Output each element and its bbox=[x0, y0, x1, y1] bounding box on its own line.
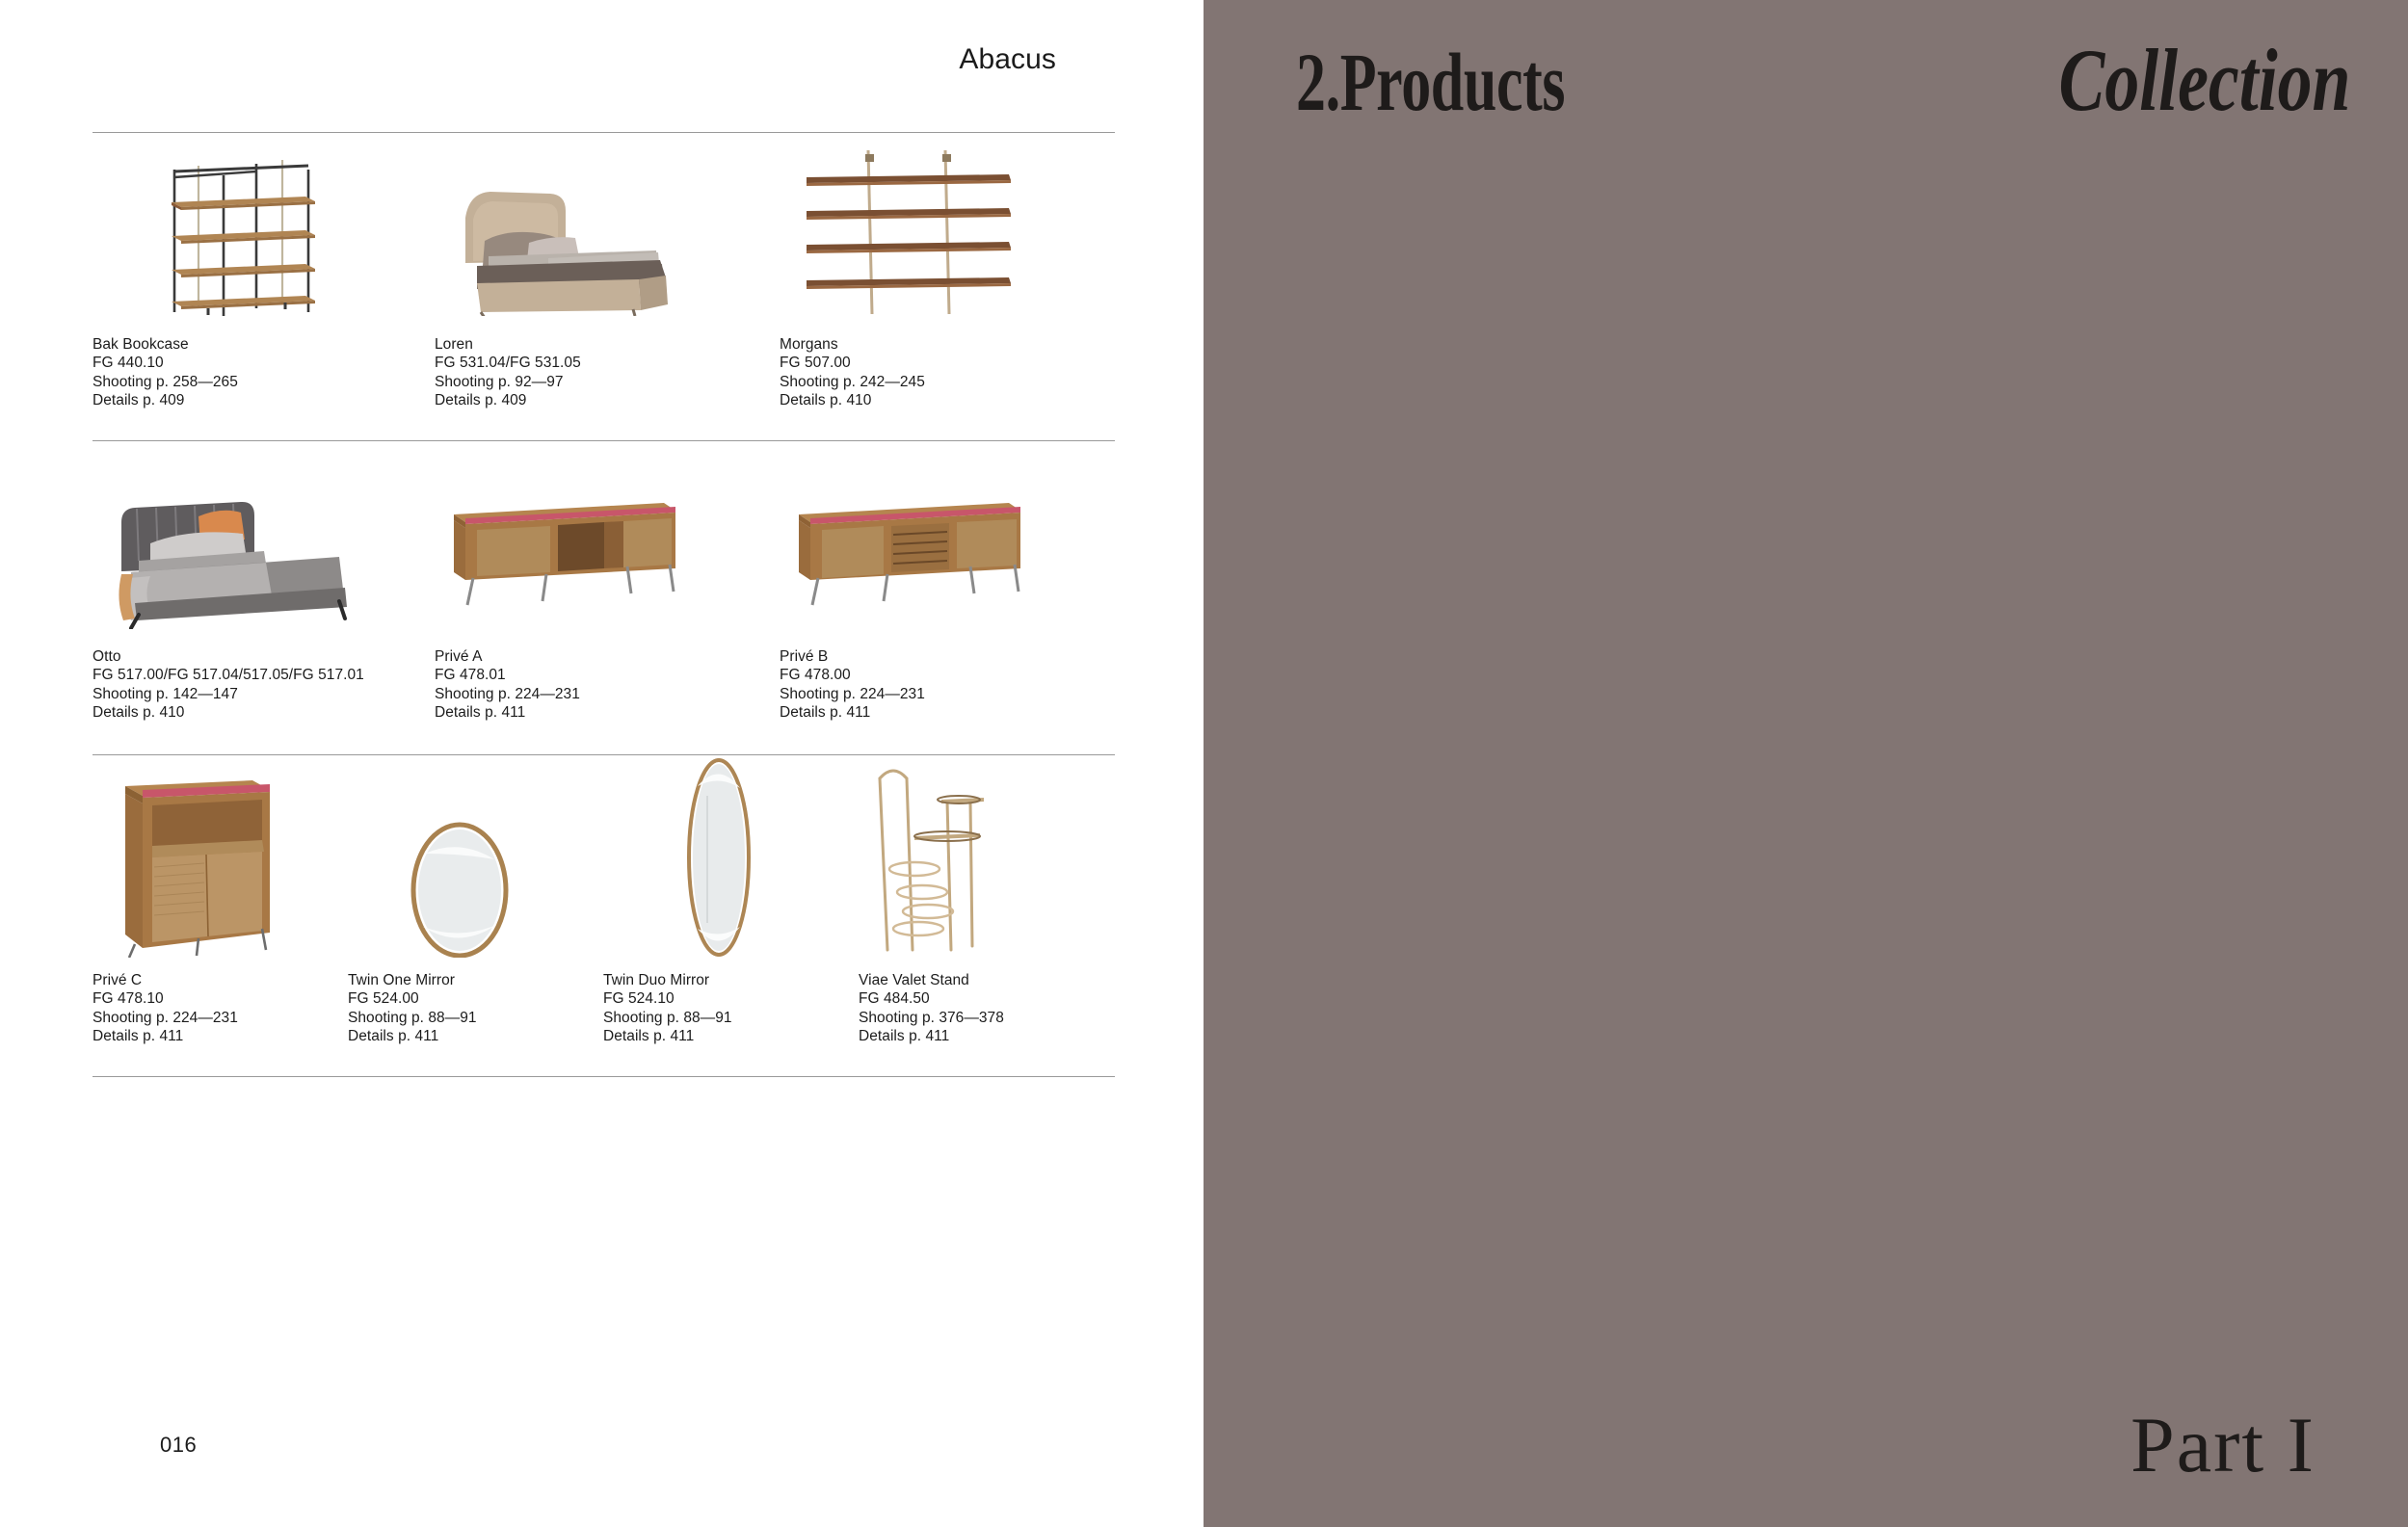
product-caption: Bak Bookcase FG 440.10 Shooting p. 258—2… bbox=[93, 335, 238, 410]
product-details-ref: Details p. 411 bbox=[348, 1027, 477, 1045]
product-details-ref: Details p. 409 bbox=[93, 391, 238, 409]
product-caption: Privé A FG 478.01 Shooting p. 224—231 De… bbox=[435, 647, 580, 723]
product-row-3: Privé C FG 478.10 Shooting p. 224—231 De… bbox=[93, 757, 1115, 1076]
cabinet-tall-icon bbox=[93, 765, 348, 958]
product-shooting-ref: Shooting p. 224—231 bbox=[435, 685, 580, 703]
product-name: Otto bbox=[93, 647, 364, 666]
divider-top bbox=[93, 132, 1115, 133]
product-name: Bak Bookcase bbox=[93, 335, 238, 354]
product-details-ref: Details p. 410 bbox=[93, 703, 364, 722]
product-details-ref: Details p. 411 bbox=[435, 703, 580, 722]
product-name: Twin Duo Mirror bbox=[603, 971, 732, 989]
right-page-panel: 2.Products Collection Part I bbox=[1204, 0, 2408, 1527]
product-code: FG 531.04/FG 531.05 bbox=[435, 354, 581, 372]
product-name: Privé B bbox=[780, 647, 925, 666]
section-subtitle: Collection bbox=[2058, 29, 2350, 131]
product-name: Twin One Mirror bbox=[348, 971, 477, 989]
product-name: Privé A bbox=[435, 647, 580, 666]
product-caption: Otto FG 517.00/FG 517.04/517.05/FG 517.0… bbox=[93, 647, 364, 723]
part-label: Part I bbox=[2130, 1400, 2315, 1490]
product-caption: Loren FG 531.04/FG 531.05 Shooting p. 92… bbox=[435, 335, 581, 410]
product-details-ref: Details p. 411 bbox=[859, 1027, 1004, 1045]
sideboard-drawers-icon bbox=[780, 489, 1117, 615]
product-details-ref: Details p. 411 bbox=[780, 703, 925, 722]
product-card-loren[interactable]: Loren FG 531.04/FG 531.05 Shooting p. 92… bbox=[435, 135, 772, 440]
product-shooting-ref: Shooting p. 142—147 bbox=[93, 685, 364, 703]
product-shooting-ref: Shooting p. 88—91 bbox=[348, 1009, 477, 1027]
product-code: FG 524.10 bbox=[603, 989, 732, 1008]
product-code: FG 440.10 bbox=[93, 354, 238, 372]
section-number-title: 2.Products bbox=[1296, 34, 1565, 130]
page-title: Abacus bbox=[959, 43, 1056, 76]
sideboard-open-icon bbox=[435, 489, 772, 615]
product-code: FG 524.00 bbox=[348, 989, 477, 1008]
product-row-2: Otto FG 517.00/FG 517.04/517.05/FG 517.0… bbox=[93, 443, 1115, 754]
product-code: FG 484.50 bbox=[859, 989, 1004, 1008]
product-details-ref: Details p. 409 bbox=[435, 391, 581, 409]
product-shooting-ref: Shooting p. 242—245 bbox=[780, 373, 925, 391]
valet-stand-icon bbox=[859, 757, 1117, 958]
divider-row-1 bbox=[93, 440, 1115, 441]
product-shooting-ref: Shooting p. 92—97 bbox=[435, 373, 581, 391]
product-details-ref: Details p. 410 bbox=[780, 391, 925, 409]
product-caption: Twin Duo Mirror FG 524.10 Shooting p. 88… bbox=[603, 971, 732, 1046]
product-row-1: Bak Bookcase FG 440.10 Shooting p. 258—2… bbox=[93, 135, 1115, 440]
product-name: Privé C bbox=[93, 971, 238, 989]
product-name: Loren bbox=[435, 335, 581, 354]
product-card-twin-duo-mirror[interactable]: Twin Duo Mirror FG 524.10 Shooting p. 88… bbox=[603, 757, 859, 1076]
product-card-prive-b[interactable]: Privé B FG 478.00 Shooting p. 224—231 De… bbox=[780, 443, 1117, 754]
bed-leather-icon bbox=[435, 143, 772, 316]
product-details-ref: Details p. 411 bbox=[93, 1027, 238, 1045]
product-shooting-ref: Shooting p. 224—231 bbox=[93, 1009, 238, 1027]
catalog-spread: Abacus bbox=[0, 0, 2408, 1527]
divider-row-3 bbox=[93, 1076, 1115, 1077]
product-code: FG 507.00 bbox=[780, 354, 925, 372]
product-name: Morgans bbox=[780, 335, 925, 354]
product-name: Viae Valet Stand bbox=[859, 971, 1004, 989]
product-card-prive-a[interactable]: Privé A FG 478.01 Shooting p. 224—231 De… bbox=[435, 443, 772, 754]
divider-row-2 bbox=[93, 754, 1115, 755]
product-caption: Privé C FG 478.10 Shooting p. 224—231 De… bbox=[93, 971, 238, 1046]
product-shooting-ref: Shooting p. 224—231 bbox=[780, 685, 925, 703]
product-card-prive-c[interactable]: Privé C FG 478.10 Shooting p. 224—231 De… bbox=[93, 757, 348, 1076]
product-caption: Morgans FG 507.00 Shooting p. 242—245 De… bbox=[780, 335, 925, 410]
bed-upholstered-icon bbox=[93, 461, 430, 629]
product-caption: Twin One Mirror FG 524.00 Shooting p. 88… bbox=[348, 971, 477, 1046]
product-card-morgans[interactable]: Morgans FG 507.00 Shooting p. 242—245 De… bbox=[780, 135, 1117, 440]
product-code: FG 517.00/FG 517.04/517.05/FG 517.01 bbox=[93, 666, 364, 684]
mirror-oval-icon bbox=[348, 765, 603, 958]
product-details-ref: Details p. 411 bbox=[603, 1027, 732, 1045]
wall-shelving-icon bbox=[780, 143, 1117, 316]
product-caption: Privé B FG 478.00 Shooting p. 224—231 De… bbox=[780, 647, 925, 723]
product-caption: Viae Valet Stand FG 484.50 Shooting p. 3… bbox=[859, 971, 1004, 1046]
product-code: FG 478.01 bbox=[435, 666, 580, 684]
product-card-twin-one-mirror[interactable]: Twin One Mirror FG 524.00 Shooting p. 88… bbox=[348, 757, 603, 1076]
mirror-tall-icon bbox=[603, 757, 859, 958]
product-code: FG 478.10 bbox=[93, 989, 238, 1008]
product-shooting-ref: Shooting p. 88—91 bbox=[603, 1009, 732, 1027]
left-page: Abacus bbox=[0, 0, 1204, 1527]
product-code: FG 478.00 bbox=[780, 666, 925, 684]
page-number: 016 bbox=[160, 1433, 197, 1458]
product-card-bak-bookcase[interactable]: Bak Bookcase FG 440.10 Shooting p. 258—2… bbox=[93, 135, 430, 440]
product-card-otto[interactable]: Otto FG 517.00/FG 517.04/517.05/FG 517.0… bbox=[93, 443, 430, 754]
product-card-viae-valet-stand[interactable]: Viae Valet Stand FG 484.50 Shooting p. 3… bbox=[859, 757, 1117, 1076]
product-shooting-ref: Shooting p. 258—265 bbox=[93, 373, 238, 391]
bookcase-icon bbox=[93, 143, 430, 316]
product-shooting-ref: Shooting p. 376—378 bbox=[859, 1009, 1004, 1027]
